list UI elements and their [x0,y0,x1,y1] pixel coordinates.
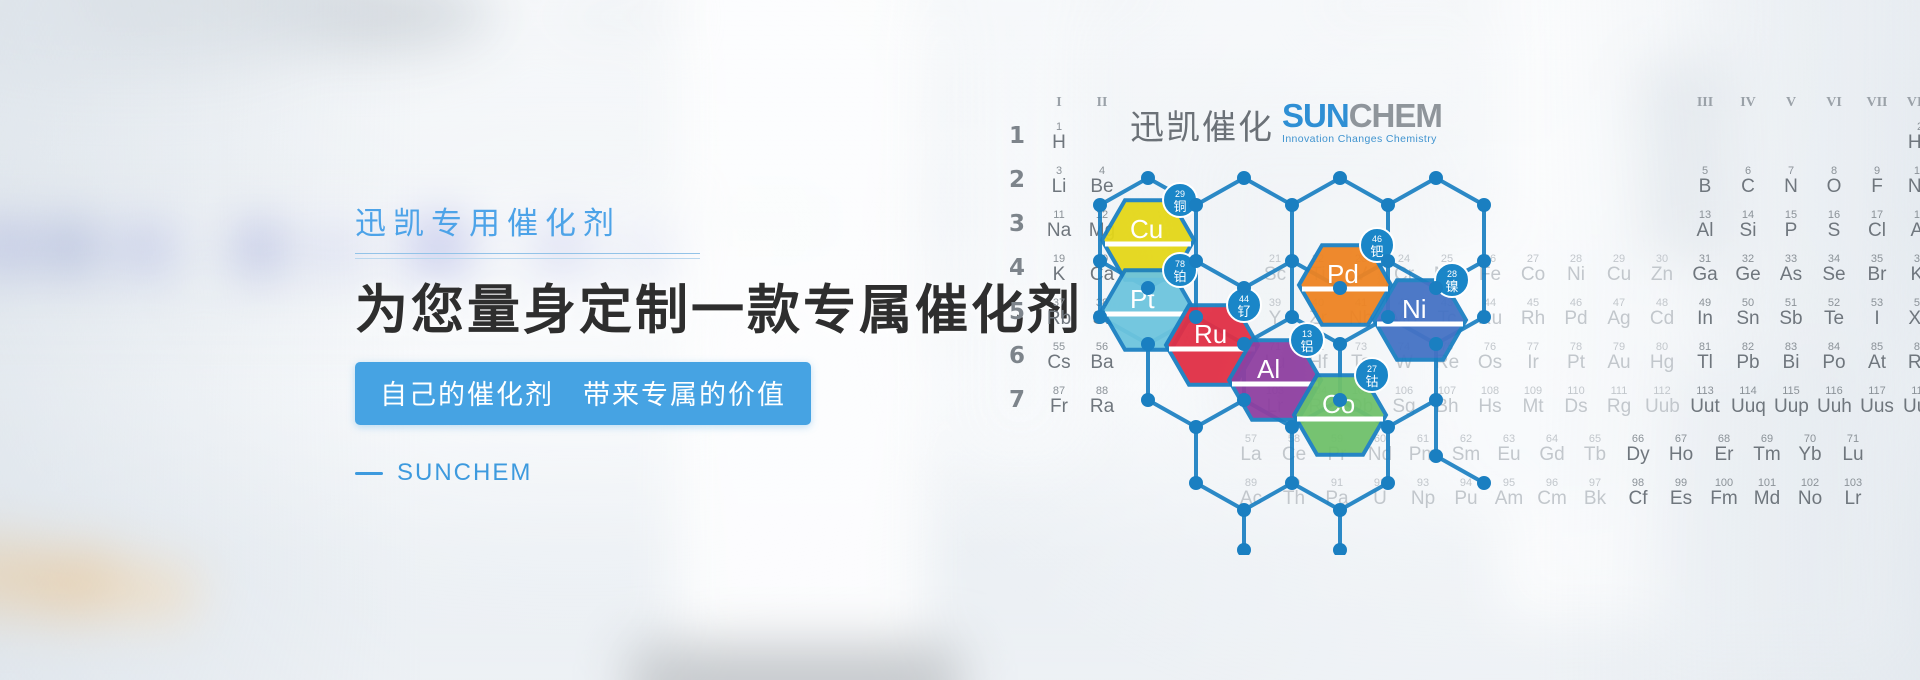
group-label-VI: VI [1817,95,1851,111]
element-symbol: At [1860,353,1894,373]
element-cell-Br: 35Br [1860,253,1894,285]
network-node [1429,449,1443,463]
hero-tagline-badge: 自己的催化剂 带来专属的价值 [355,362,811,425]
hero-headline: 为您量身定制一款专属催化剂 [355,279,1035,343]
element-symbol: Lu [1836,445,1870,465]
element-symbol: Br [1860,265,1894,285]
hexagon-chinese-name-Ru: 钌 [1237,304,1250,319]
network-node [1285,254,1299,268]
element-symbol: F [1860,177,1894,197]
element-cell-F: 9F [1860,165,1894,197]
network-node [1189,198,1203,212]
eyebrow-divider-bottom [355,258,700,259]
element-symbol: No [1793,489,1827,509]
element-symbol: Cl [1860,221,1894,241]
element-cell-As: 33As [1774,253,1808,285]
network-node [1381,420,1395,434]
network-node [1429,281,1443,295]
hexagon-chinese-name-Pd: 钯 [1370,244,1383,259]
element-cell-Sb: 51Sb [1774,297,1808,329]
element-cell-Uus: 117Uus [1860,385,1894,417]
hero-byline: SUNCHEM [355,459,1035,487]
logo-tagline: Innovation Changes Chemistry [1282,134,1442,145]
network-node [1333,503,1347,517]
hexagon-symbol-Al: Al [1257,354,1280,384]
network-node [1189,310,1203,324]
logo-english: SUNCHEM Innovation Changes Chemistry [1282,100,1442,145]
element-cell-Ar: 18Ar [1903,209,1920,241]
element-cell-Lr: 103Lr [1836,477,1870,509]
network-node [1333,281,1347,295]
hexagon-atomic-number-Ru: 44 [1239,294,1249,304]
network-node [1381,310,1395,324]
element-symbol: Bi [1774,353,1808,373]
hexagon-symbol-Ni: Ni [1402,294,1427,324]
element-symbol: P [1774,221,1808,241]
hexagon-atomic-number-Ni: 28 [1447,269,1457,279]
element-cell-Yb: 70Yb [1793,433,1827,465]
hexagon-symbol-Cu: Cu [1130,214,1163,244]
element-cell-Po: 84Po [1817,341,1851,373]
hexagon-atomic-number-Cu: 29 [1175,189,1185,199]
hexagon-atomic-number-Al: 13 [1302,329,1312,339]
element-cell-Uuo: 118Uuo [1903,385,1920,417]
element-cell-N: 7N [1774,165,1808,197]
element-symbol: Rn [1903,353,1920,373]
hexagon-chinese-name-Co: 钴 [1365,374,1378,389]
network-node [1381,476,1395,490]
element-symbol: Lr [1836,489,1870,509]
network-node [1189,420,1203,434]
network-node [1477,254,1491,268]
network-node [1237,171,1251,185]
element-symbol: As [1774,265,1808,285]
element-symbol: He [1903,133,1920,153]
element-symbol: Te [1817,309,1851,329]
element-symbol: Yb [1793,445,1827,465]
element-cell-Cl: 17Cl [1860,209,1894,241]
network-node [1093,310,1107,324]
element-symbol: Ne [1903,177,1920,197]
element-symbol: O [1817,177,1851,197]
network-node [1429,393,1443,407]
network-node [1285,476,1299,490]
catalyst-hexagon-network: Cu29铜Pt78铂Ru44钌Al13铝Co27钴Pd46钯Ni28镍 [1000,95,1760,555]
element-cell-Lu: 71Lu [1836,433,1870,465]
hexagon-atomic-number-Pt: 78 [1175,259,1185,269]
hexagon-network-svg: Cu29铜Pt78铂Ru44钌Al13铝Co27钴Pd46钯Ni28镍 [1000,95,1760,555]
element-cell-No: 102No [1793,477,1827,509]
group-label-VIII: VIII [1903,95,1920,111]
group-label-VII: VII [1860,95,1894,111]
hexagon-chinese-name-Cu: 铜 [1173,199,1186,214]
network-node [1333,393,1347,407]
network-node [1141,393,1155,407]
logo-wordmark: SUNCHEM [1282,97,1442,134]
element-cell-Kr: 36Kr [1903,253,1920,285]
network-node [1381,198,1395,212]
network-node [1285,198,1299,212]
network-node [1237,281,1251,295]
network-node [1333,337,1347,351]
network-node [1141,171,1155,185]
element-cell-Bi: 83Bi [1774,341,1808,373]
network-node [1189,254,1203,268]
element-symbol: N [1774,177,1808,197]
network-node [1333,543,1347,555]
network-node [1429,337,1443,351]
network-node [1333,171,1347,185]
element-symbol: Uup [1774,397,1808,417]
network-node [1477,310,1491,324]
element-cell-Se: 34Se [1817,253,1851,285]
network-node [1381,254,1395,268]
hexagon-chinese-name-Ni: 镍 [1445,279,1458,294]
network-node [1237,393,1251,407]
element-cell-Xe: 54Xe [1903,297,1920,329]
element-cell-At: 85At [1860,341,1894,373]
element-cell-He: 2He [1903,121,1920,153]
element-symbol: Uuo [1903,397,1920,417]
element-symbol: Uus [1860,397,1894,417]
hexagon-atomic-number-Co: 27 [1367,364,1377,374]
element-symbol: Xe [1903,309,1920,329]
dash-icon [355,472,383,475]
element-symbol: Ar [1903,221,1920,241]
network-node [1285,310,1299,324]
hexagon-atomic-number-Pd: 46 [1372,234,1382,244]
network-node [1093,254,1107,268]
network-node [1141,337,1155,351]
element-cell-P: 15P [1774,209,1808,241]
network-node [1477,198,1491,212]
element-cell-Rn: 86Rn [1903,341,1920,373]
logo-chinese-name: 迅凯催化 [1130,111,1274,145]
element-cell-Uuh: 116Uuh [1817,385,1851,417]
hexagon-chinese-name-Pt: 铂 [1173,269,1186,284]
element-cell-Te: 52Te [1817,297,1851,329]
hero-eyebrow: 迅凯专用催化剂 [355,205,1035,253]
hexagon-symbol-Ru: Ru [1194,319,1227,349]
network-node [1285,420,1299,434]
hero-byline-text: SUNCHEM [397,459,532,487]
network-node [1141,281,1155,295]
network-node [1237,543,1251,555]
eyebrow-divider-top [355,253,700,254]
element-symbol: S [1817,221,1851,241]
group-label-V: V [1774,95,1808,111]
element-symbol: I [1860,309,1894,329]
element-cell-Uup: 115Uup [1774,385,1808,417]
hero-copy: 迅凯专用催化剂 为您量身定制一款专属催化剂 自己的催化剂 带来专属的价值 SUN… [355,205,1035,487]
element-symbol: Uuh [1817,397,1851,417]
element-symbol: Po [1817,353,1851,373]
element-cell-I: 53I [1860,297,1894,329]
element-symbol: Se [1817,265,1851,285]
logo-sun: SUN [1282,97,1349,134]
element-symbol: Sb [1774,309,1808,329]
element-cell-Ne: 10Ne [1903,165,1920,197]
hexagon-chinese-name-Al: 铝 [1300,339,1313,354]
brand-logo: 迅凯催化 SUNCHEM Innovation Changes Chemistr… [1130,100,1442,145]
network-node [1237,337,1251,351]
logo-chem: CHEM [1349,97,1442,134]
element-cell-O: 8O [1817,165,1851,197]
network-node [1093,198,1107,212]
element-cell-S: 16S [1817,209,1851,241]
network-node [1429,171,1443,185]
element-symbol: Kr [1903,265,1920,285]
network-node [1189,476,1203,490]
network-node [1237,503,1251,517]
network-node [1477,476,1491,490]
hero-banner: 迅凯专用催化剂 为您量身定制一款专属催化剂 自己的催化剂 带来专属的价值 SUN… [0,0,1920,680]
